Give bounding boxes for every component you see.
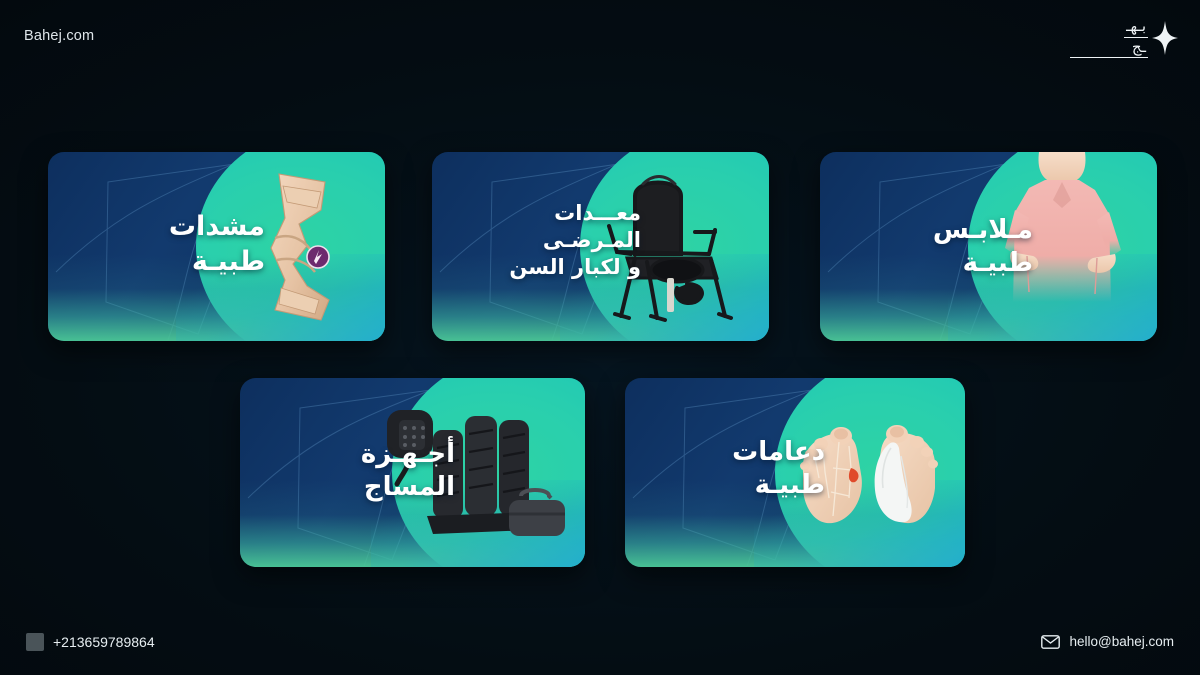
envelope-icon [1041,635,1060,649]
logo-line-2: ـج [1070,38,1148,58]
card-title-massage-devices: أجـهـزة المساج [361,438,455,505]
card-title-medical-braces: دعامات طبيـة [732,436,825,503]
card-title-medical-supports: مشدات طبيـة [169,210,265,279]
poster-canvas: Bahej.com بـهـ ـج مشدات طبيـة [0,0,1200,675]
category-card-medical-clothing[interactable]: مـلابـس طبيـة [820,152,1157,341]
card-title-medical-clothing: مـلابـس طبيـة [933,214,1033,281]
card-title-patient-elderly-equipment: معـــدات المـرضـى و لكبار السن [509,200,641,281]
sparkle-four-point-icon [1152,21,1178,55]
brand-wordmark: Bahej.com [24,28,94,44]
category-card-medical-supports[interactable]: مشدات طبيـة [48,152,385,341]
category-card-massage-devices[interactable]: أجـهـزة المساج [240,378,585,567]
phone-icon [26,633,44,651]
category-card-medical-braces[interactable]: دعامات طبيـة [625,378,965,567]
email-address: hello@bahej.com [1069,634,1174,649]
bahej-logo: بـهـ ـج [1070,14,1178,62]
category-card-patient-elderly-equipment[interactable]: معـــدات المـرضـى و لكبار السن [432,152,769,341]
phone-number: +213659789864 [53,634,155,650]
footer-email[interactable]: hello@bahej.com [1041,634,1174,649]
logo-line-1: بـهـ [1124,19,1148,38]
footer-phone[interactable]: +213659789864 [26,633,155,651]
logo-arabic-script: بـهـ ـج [1070,19,1148,58]
